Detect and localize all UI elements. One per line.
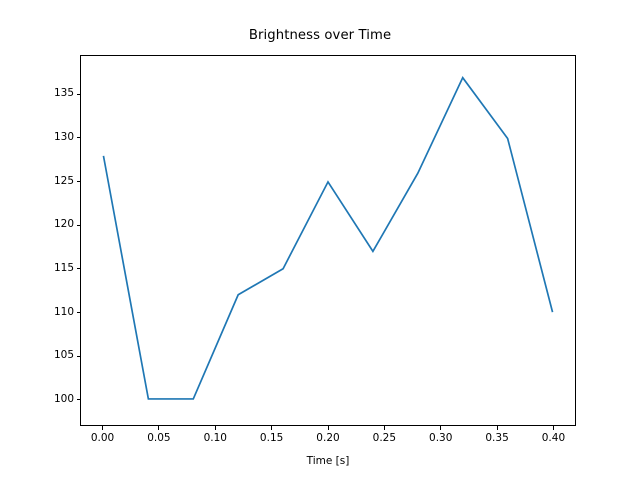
x-tick-mark bbox=[497, 426, 498, 430]
x-tick-label: 0.00 bbox=[81, 432, 125, 444]
x-tick-label: 0.40 bbox=[531, 432, 575, 444]
x-tick-mark bbox=[440, 426, 441, 430]
x-tick-mark bbox=[328, 426, 329, 430]
x-tick-label: 0.20 bbox=[306, 432, 350, 444]
y-tick-label: 110 bbox=[14, 306, 74, 318]
y-tick-label: 125 bbox=[14, 175, 74, 187]
x-tick-mark bbox=[215, 426, 216, 430]
x-tick-label: 0.35 bbox=[475, 432, 519, 444]
figure-canvas: Brightness over Time Brightness 10010511… bbox=[0, 0, 640, 480]
y-tick-label: 130 bbox=[14, 131, 74, 143]
data-line-svg bbox=[81, 56, 575, 425]
x-tick-mark bbox=[553, 426, 554, 430]
x-tick-label: 0.10 bbox=[193, 432, 237, 444]
y-tick-label: 135 bbox=[14, 87, 74, 99]
x-tick-label: 0.25 bbox=[362, 432, 406, 444]
chart-title: Brightness over Time bbox=[0, 28, 640, 43]
plot-area bbox=[80, 55, 576, 426]
x-tick-mark bbox=[384, 426, 385, 430]
y-tick-label: 115 bbox=[14, 262, 74, 274]
x-tick-mark bbox=[102, 426, 103, 430]
x-tick-label: 0.30 bbox=[419, 432, 463, 444]
series-line-brightness bbox=[103, 78, 552, 399]
x-axis-label: Time [s] bbox=[80, 455, 576, 467]
x-tick-mark bbox=[158, 426, 159, 430]
y-tick-label: 105 bbox=[14, 349, 74, 361]
x-tick-mark bbox=[271, 426, 272, 430]
x-tick-label: 0.05 bbox=[137, 432, 181, 444]
x-tick-label: 0.15 bbox=[250, 432, 294, 444]
y-tick-label: 100 bbox=[14, 393, 74, 405]
y-tick-label: 120 bbox=[14, 218, 74, 230]
